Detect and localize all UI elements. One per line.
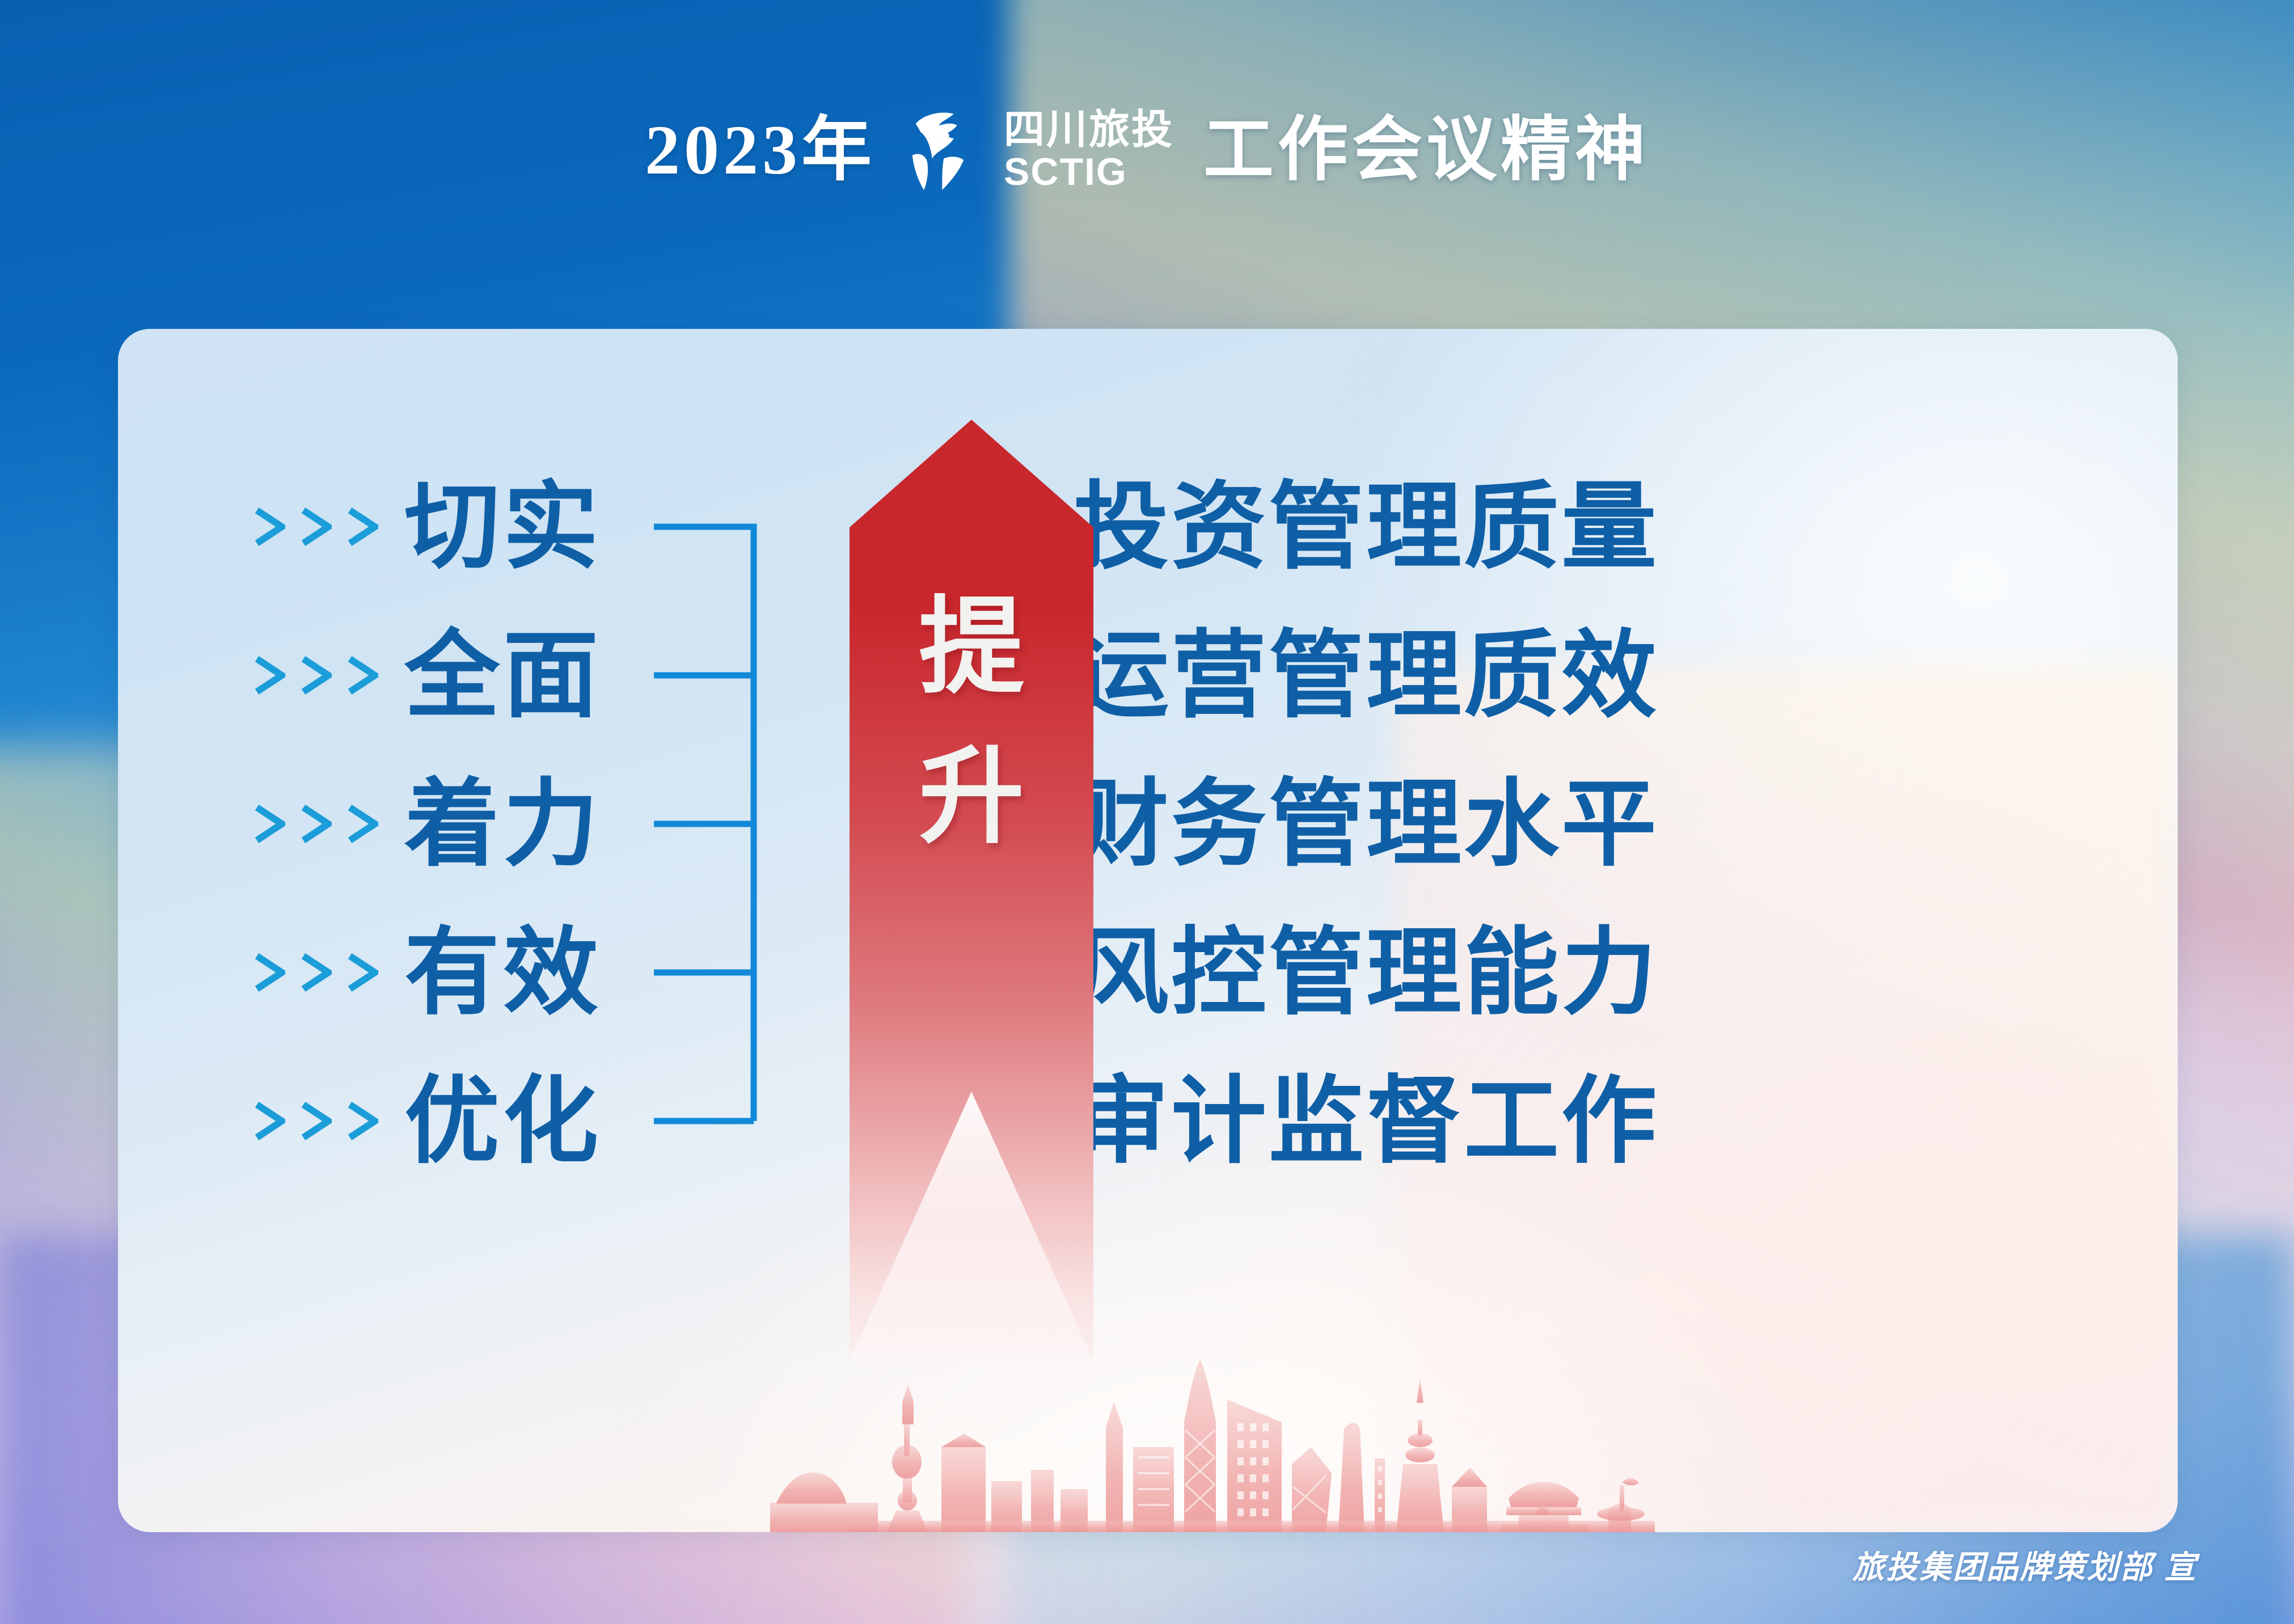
keyword-cell: 有效 (404, 925, 654, 1020)
items-list: 切实 投资管理质量 (118, 452, 2178, 1195)
chevron-right-icon (300, 655, 332, 695)
bracket-left (654, 750, 762, 898)
keyword-cell: 全面 (404, 628, 654, 723)
up-arrow-banner-icon (850, 420, 1093, 1361)
chevron-right-icon (300, 953, 332, 992)
list-item[interactable]: 着力 财务管理水平 (118, 750, 2178, 898)
chevron-group (118, 507, 404, 547)
chevron-right-icon (347, 1101, 378, 1141)
chevron-right-icon (254, 953, 285, 992)
chevron-right-icon (300, 507, 332, 547)
keyword-cell: 优化 (404, 1073, 654, 1169)
item-keyword: 优化 (404, 1073, 602, 1169)
item-phrase: 运营管理质效 (1074, 628, 1659, 723)
logo-wordmark: 四川旅投 SCTIG (1004, 109, 1174, 191)
bracket-left (654, 452, 762, 601)
item-keyword: 有效 (404, 925, 602, 1020)
arrow-label: 提 升 (850, 595, 1093, 851)
chevron-group (118, 804, 404, 844)
bracket-left (654, 601, 762, 750)
list-item[interactable]: 有效 风控管理能力 (118, 898, 2178, 1047)
card-content: 提 升 切实 (118, 329, 2178, 1532)
footer-credit: 旅投集团品牌策划部 宣 (1852, 1542, 2198, 1588)
center-arrow: 提 升 (850, 420, 1093, 1361)
phrase-cell: 财务管理水平 (1074, 776, 2178, 872)
item-phrase: 审计监督工作 (1074, 1073, 1659, 1169)
phrase-cell: 投资管理质量 (1074, 479, 2178, 574)
chevron-group (118, 655, 404, 695)
keyword-cell: 着力 (404, 776, 654, 872)
chevron-right-icon (300, 1101, 332, 1141)
item-phrase: 投资管理质量 (1074, 479, 1659, 574)
item-phrase: 风控管理能力 (1074, 925, 1659, 1020)
item-phrase: 财务管理水平 (1074, 776, 1659, 872)
item-keyword: 切实 (404, 479, 602, 574)
brand-logo: 四川旅投 SCTIG (905, 109, 1174, 192)
bracket-left-icon (654, 1047, 762, 1195)
sctig-globe-logo-icon (905, 109, 989, 192)
chevron-right-icon (254, 1101, 285, 1141)
chevron-right-icon (347, 655, 378, 695)
list-item[interactable]: 全面 运营管理质效 (118, 601, 2178, 750)
chevron-right-icon (300, 804, 332, 844)
chevron-right-icon (254, 507, 285, 547)
list-item[interactable]: 切实 投资管理质量 (118, 452, 2178, 601)
bracket-left-icon (654, 898, 762, 1047)
bracket-left (654, 898, 762, 1047)
arrow-char-1: 提 (919, 595, 1024, 701)
bracket-left (654, 1047, 762, 1195)
arrow-char-2: 升 (919, 745, 1024, 851)
bracket-left-icon (654, 601, 762, 750)
poster-canvas: 2023年 四川旅投 SCTIG 工作会议精神 (0, 0, 2294, 1624)
list-item[interactable]: 优化 审计监督工作 (118, 1047, 2178, 1195)
chevron-right-icon (347, 507, 378, 547)
chevron-group (118, 1101, 404, 1141)
chevron-right-icon (347, 953, 378, 992)
keyword-cell: 切实 (404, 479, 654, 574)
phrase-cell: 审计监督工作 (1074, 1073, 2178, 1169)
header-year: 2023年 (645, 115, 876, 185)
header-title: 工作会议精神 (1203, 115, 1649, 185)
chevron-right-icon (347, 804, 378, 844)
item-keyword: 着力 (404, 776, 602, 872)
item-keyword: 全面 (404, 628, 602, 723)
chevron-right-icon (254, 655, 285, 695)
phrase-cell: 风控管理能力 (1074, 925, 2178, 1020)
bracket-left-icon (654, 750, 762, 898)
poster-header: 2023年 四川旅投 SCTIG 工作会议精神 (0, 85, 2294, 215)
logo-chinese-name: 四川旅投 (1004, 109, 1174, 150)
logo-english-name: SCTIG (1004, 153, 1127, 191)
chevron-group (118, 953, 404, 992)
bracket-left-icon (654, 452, 762, 601)
phrase-cell: 运营管理质效 (1074, 628, 2178, 723)
chevron-right-icon (254, 804, 285, 844)
